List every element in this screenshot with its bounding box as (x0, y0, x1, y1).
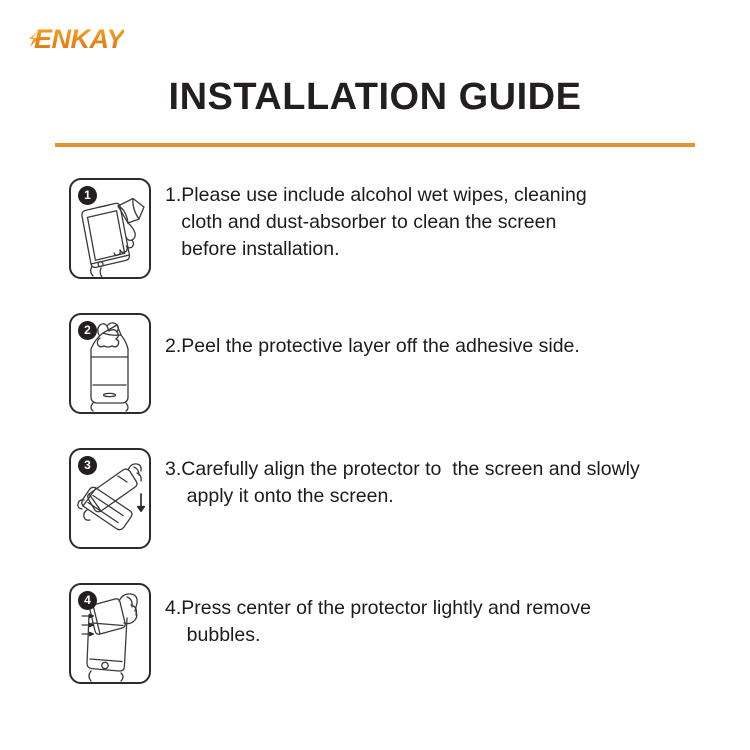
list-item: 1 (0, 178, 750, 279)
step-badge-4: 4 (78, 591, 97, 610)
list-item: 3 (0, 448, 750, 549)
step-text-1: 1.Please use include alcohol wet wipes, … (165, 178, 750, 263)
step-illustration-2: 2 (69, 313, 151, 414)
step-illustration-4: 4 (69, 583, 151, 684)
step-text-2: 2.Peel the protective layer off the adhe… (165, 313, 750, 360)
step-illustration-3: 3 (69, 448, 151, 549)
list-item: 2 (0, 313, 750, 414)
step-text-3: 3.Carefully align the protector to the s… (165, 448, 750, 510)
step-badge-2: 2 (78, 321, 97, 340)
step-badge-3: 3 (78, 456, 97, 475)
step-badge-1: 1 (78, 186, 97, 205)
step-text-4: 4.Press center of the protector lightly … (165, 583, 750, 649)
step-illustration-1: 1 (69, 178, 151, 279)
page-title: INSTALLATION GUIDE (0, 76, 750, 119)
brand-logo: ENKAY (34, 26, 124, 53)
list-item: 4 (0, 583, 750, 684)
steps-list: 1 (0, 178, 750, 718)
title-divider (55, 143, 695, 147)
